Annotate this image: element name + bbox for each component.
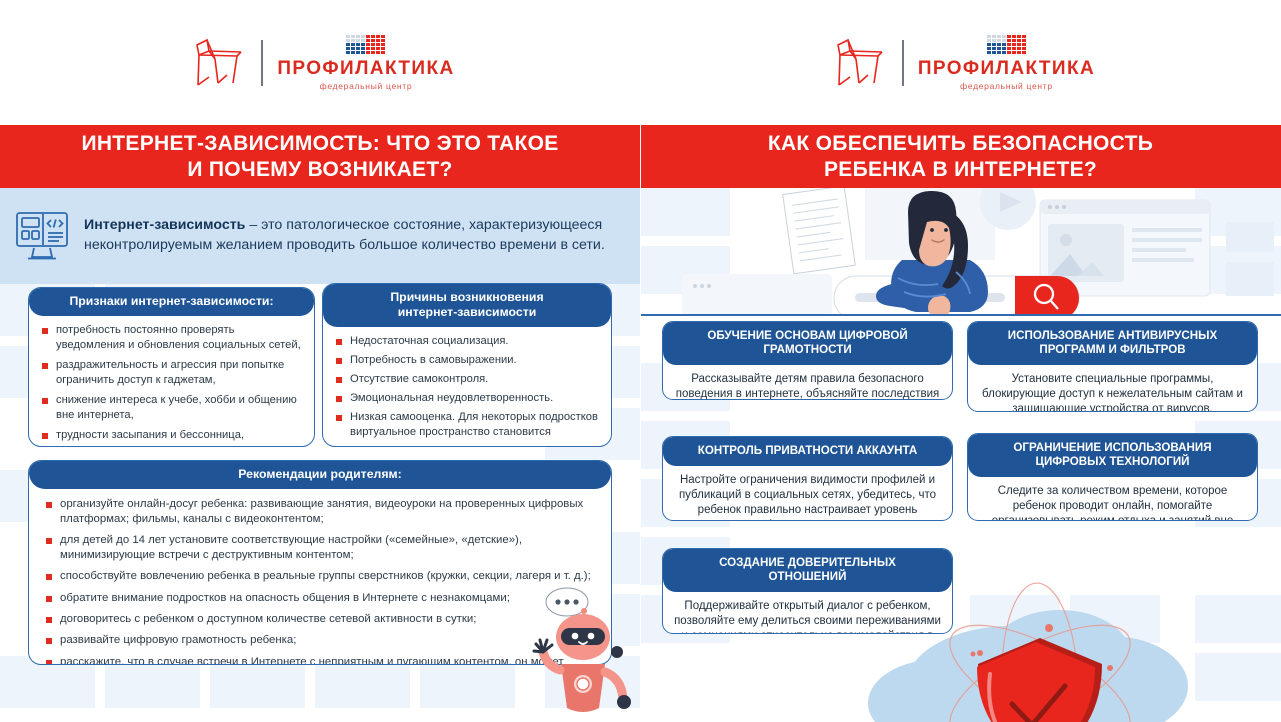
list-item: потребность постоянно проверять уведомле…: [41, 323, 304, 352]
card-usage-limits-body: Следите за количеством времени, которое …: [968, 477, 1257, 521]
card-digital-literacy: ОБУЧЕНИЕ ОСНОВАМ ЦИФРОВОЙ ГРАМОТНОСТИ Ра…: [662, 321, 953, 400]
brand-logo: ПРОФИЛАКТИКА федеральный центр: [826, 35, 1095, 91]
robot-mascot-icon: [527, 580, 639, 716]
recommendations-list: организуйте онлайн-досуг ребенка: развив…: [45, 497, 597, 665]
card-digital-literacy-title: ОБУЧЕНИЕ ОСНОВАМ ЦИФРОВОЙ ГРАМОТНОСТИ: [663, 322, 952, 365]
left-panel: ПРОФИЛАКТИКА федеральный центр ИНТЕРНЕТ-…: [0, 0, 640, 722]
chair-logo-icon: [185, 37, 247, 89]
definition-term: Интернет-зависимость: [84, 217, 245, 233]
card-usage-limits: ОГРАНИЧЕНИЕ ИСПОЛЬЗОВАНИЯ ЦИФРОВЫХ ТЕХНО…: [967, 433, 1258, 521]
monitor-code-icon: [14, 210, 70, 262]
chair-logo-icon: [826, 37, 888, 89]
flag-grid-icon: [987, 35, 1026, 54]
card-trust-relations: СОЗДАНИЕ ДОВЕРИТЕЛЬНЫХ ОТНОШЕНИЙ Поддерж…: [662, 548, 953, 634]
card-recommendations: Рекомендации родителям: организуйте онла…: [28, 460, 612, 665]
left-header-banner: ИНТЕРНЕТ-ЗАВИСИМОСТЬ: ЧТО ЭТО ТАКОЕ И ПО…: [0, 125, 640, 188]
brand-subtitle: федеральный центр: [320, 81, 413, 91]
list-item: Низкая самооценка. Для некоторых подрост…: [335, 410, 601, 439]
list-item: раздражительность и агрессия при попытке…: [41, 358, 304, 387]
list-item: снижение интереса к учебе, хобби и общен…: [41, 393, 304, 422]
card-digital-literacy-body: Рассказывайте детям правила безопасного …: [663, 365, 952, 400]
left-brand-bar: ПРОФИЛАКТИКА федеральный центр: [0, 0, 640, 125]
card-antivirus-body: Установите специальные программы, блокир…: [968, 365, 1257, 412]
list-item: Эмоциональная неудовлетворенность.: [335, 391, 601, 406]
card-antivirus-title: ИСПОЛЬЗОВАНИЕ АНТИВИРУСНЫХ ПРОГРАММ И ФИ…: [968, 322, 1257, 365]
infographic-root: ПРОФИЛАКТИКА федеральный центр ИНТЕРНЕТ-…: [0, 0, 1281, 722]
list-item: для детей до 14 лет установите соответст…: [45, 533, 597, 563]
left-header-title: ИНТЕРНЕТ-ЗАВИСИМОСТЬ: ЧТО ЭТО ТАКОЕ И ПО…: [81, 131, 558, 182]
card-trust-relations-body: Поддерживайте открытый диалог с ребенком…: [663, 592, 952, 634]
brand-text-block: ПРОФИЛАКТИКА федеральный центр: [277, 35, 454, 91]
list-item: Недостаточная социализация.: [335, 334, 601, 349]
list-item: договоритесь с ребенком о доступном коли…: [45, 612, 597, 627]
brand-logo: ПРОФИЛАКТИКА федеральный центр: [185, 35, 454, 91]
right-content: ОБУЧЕНИЕ ОСНОВАМ ЦИФРОВОЙ ГРАМОТНОСТИ Ра…: [640, 188, 1281, 722]
hero-illustration: [640, 188, 1281, 316]
card-causes-title: Причины возникновения интернет-зависимос…: [323, 284, 611, 327]
list-item: трудности засыпания и бессонница,: [41, 428, 304, 443]
list-item: Потребность в самовыражении.: [335, 353, 601, 368]
card-account-privacy-title: КОНТРОЛЬ ПРИВАТНОСТИ АККАУНТА: [663, 437, 952, 466]
logo-separator: [902, 40, 904, 86]
list-item: обратите внимание подростков на опасност…: [45, 591, 597, 606]
card-account-privacy-body: Настройте ограничения видимости профилей…: [663, 466, 952, 521]
right-brand-bar: ПРОФИЛАКТИКА федеральный центр: [640, 0, 1281, 125]
card-recommendations-title: Рекомендации родителям:: [29, 461, 611, 489]
brand-text-block: ПРОФИЛАКТИКА федеральный центр: [918, 35, 1095, 91]
logo-separator: [261, 40, 263, 86]
card-recommendations-body: организуйте онлайн-досуг ребенка: развив…: [29, 489, 611, 665]
panel-divider: [640, 0, 641, 722]
card-signs-body: потребность постоянно проверять уведомле…: [29, 316, 314, 447]
card-causes-body: Недостаточная социализация. Потребность …: [323, 327, 611, 447]
card-usage-limits-title: ОГРАНИЧЕНИЕ ИСПОЛЬЗОВАНИЯ ЦИФРОВЫХ ТЕХНО…: [968, 434, 1257, 477]
card-signs-title: Признаки интернет-зависимости:: [29, 288, 314, 316]
card-causes: Причины возникновения интернет-зависимос…: [322, 283, 612, 447]
brand-title: ПРОФИЛАКТИКА: [277, 59, 454, 78]
brand-title: ПРОФИЛАКТИКА: [918, 59, 1095, 78]
card-trust-relations-title: СОЗДАНИЕ ДОВЕРИТЕЛЬНЫХ ОТНОШЕНИЙ: [663, 549, 952, 592]
flag-grid-icon: [346, 35, 385, 54]
signs-list: потребность постоянно проверять уведомле…: [41, 323, 304, 447]
card-signs: Признаки интернет-зависимости: потребнос…: [28, 287, 315, 447]
right-panel: ПРОФИЛАКТИКА федеральный центр КАК ОБЕСП…: [640, 0, 1281, 722]
brand-subtitle: федеральный центр: [960, 81, 1053, 91]
card-antivirus: ИСПОЛЬЗОВАНИЕ АНТИВИРУСНЫХ ПРОГРАММ И ФИ…: [967, 321, 1258, 412]
list-item: расскажите, что в случае встречи в Интер…: [45, 655, 597, 665]
card-account-privacy: КОНТРОЛЬ ПРИВАТНОСТИ АККАУНТА Настройте …: [662, 436, 953, 521]
list-item: развивайте цифровую грамотность ребенка;: [45, 633, 597, 648]
document-icon: [783, 188, 856, 274]
list-item: способствуйте вовлечению ребенка в реаль…: [45, 569, 597, 584]
definition-text: Интернет-зависимость – это патологическо…: [84, 216, 620, 255]
left-content: Интернет-зависимость – это патологическо…: [0, 188, 640, 722]
list-item: Отсутствие самоконтроля.: [335, 372, 601, 387]
list-item: организуйте онлайн-досуг ребенка: развив…: [45, 497, 597, 527]
right-header-banner: КАК ОБЕСПЕЧИТЬ БЕЗОПАСНОСТЬ РЕБЕНКА В ИН…: [640, 125, 1281, 188]
definition-block: Интернет-зависимость – это патологическо…: [0, 188, 640, 284]
right-header-title: КАК ОБЕСПЕЧИТЬ БЕЗОПАСНОСТЬ РЕБЕНКА В ИН…: [768, 131, 1153, 182]
causes-list: Недостаточная социализация. Потребность …: [335, 334, 601, 439]
